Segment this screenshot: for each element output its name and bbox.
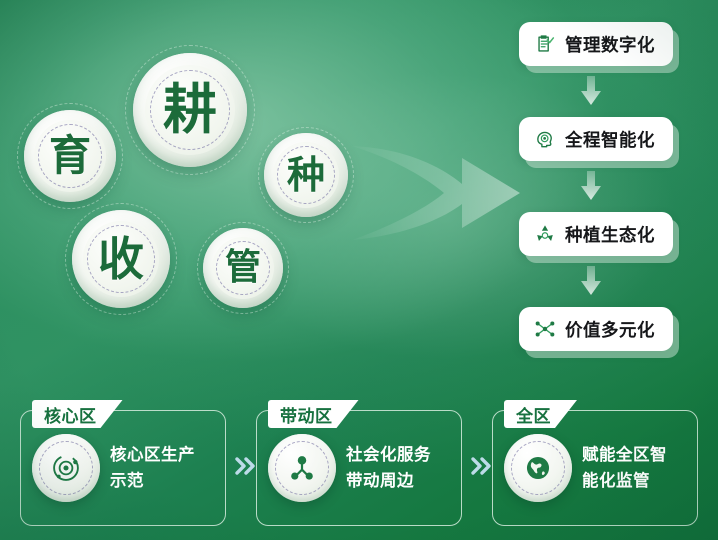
flow-step-label: 管理数字化 xyxy=(565,32,655,57)
seal-badge-yu[interactable]: 育 xyxy=(24,110,116,202)
flow-step-label: 全程智能化 xyxy=(565,127,655,152)
zone-card-medal xyxy=(268,434,336,502)
seal-badge-shou[interactable]: 收 xyxy=(72,210,170,308)
flow-step-label: 价值多元化 xyxy=(565,317,655,342)
zone-card-text: 赋能全区智 能化监管 xyxy=(582,442,667,493)
zone-card-text-line1: 赋能全区智 xyxy=(582,442,667,468)
flow-step-full-process-intelligence[interactable]: 全程智能化 xyxy=(519,117,673,161)
infographic-canvas: 育 耕 种 收 管 管理数字化 xyxy=(0,0,718,540)
zone-card-medal xyxy=(32,434,100,502)
recycle-icon xyxy=(534,223,556,245)
clipboard-check-icon xyxy=(534,33,556,55)
zone-card-text: 核心区生产 示范 xyxy=(110,442,195,493)
down-arrow-icon xyxy=(578,171,604,201)
atom-orbit-icon xyxy=(49,451,83,485)
zone-card-whole-district[interactable]: 全区 赋能全区智 能化监管 xyxy=(492,400,698,526)
zone-card-driving[interactable]: 带动区 社会化服务 带动周边 xyxy=(256,400,462,526)
seal-badge-geng[interactable]: 耕 xyxy=(133,53,247,167)
zone-card-text-line1: 核心区生产 xyxy=(110,442,195,468)
zone-card-body: 赋能全区智 能化监管 xyxy=(492,410,698,526)
big-right-arrow-icon xyxy=(352,138,522,248)
zone-card-text-line2: 能化监管 xyxy=(582,468,667,494)
zone-card-text-line1: 社会化服务 xyxy=(346,442,431,468)
zone-card-body: 核心区生产 示范 xyxy=(20,410,226,526)
zone-card-core[interactable]: 核心区 核心区生产 示范 xyxy=(20,400,226,526)
seal-glyph: 种 xyxy=(287,156,325,194)
node-ripple-icon xyxy=(285,451,319,485)
down-arrow-icon xyxy=(578,76,604,106)
zone-card-text-line2: 示范 xyxy=(110,468,195,494)
network-nodes-icon xyxy=(534,318,556,340)
flow-step-planting-ecologization[interactable]: 种植生态化 xyxy=(519,212,673,256)
zone-card-body: 社会化服务 带动周边 xyxy=(256,410,462,526)
seal-badge-guan[interactable]: 管 xyxy=(203,228,283,308)
seal-glyph: 育 xyxy=(49,135,91,177)
smart-head-icon xyxy=(534,128,556,150)
globe-icon xyxy=(521,451,555,485)
flow-step-label: 种植生态化 xyxy=(565,222,655,247)
zone-card-text-line2: 带动周边 xyxy=(346,468,431,494)
zone-card-medal xyxy=(504,434,572,502)
seal-badge-zhong[interactable]: 种 xyxy=(264,133,348,217)
seal-glyph: 耕 xyxy=(163,83,217,137)
flow-step-value-diversification[interactable]: 价值多元化 xyxy=(519,307,673,351)
seal-glyph: 管 xyxy=(225,250,261,286)
zone-card-text: 社会化服务 带动周边 xyxy=(346,442,431,493)
down-arrow-icon xyxy=(578,266,604,296)
flow-step-management-digitization[interactable]: 管理数字化 xyxy=(519,22,673,66)
seal-glyph: 收 xyxy=(98,236,144,282)
